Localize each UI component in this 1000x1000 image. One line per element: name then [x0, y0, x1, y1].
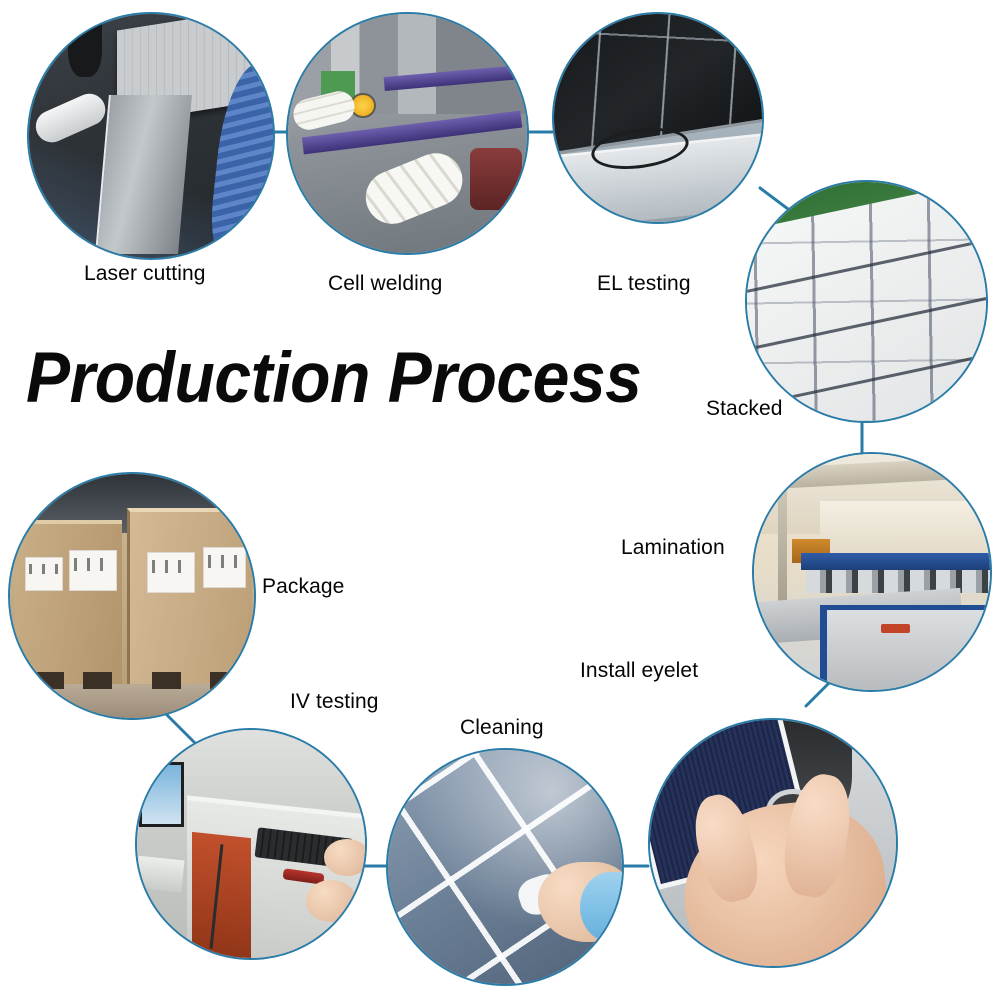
step-circle-el-testing[interactable]: [552, 12, 764, 224]
install-eyelet-photo: [650, 720, 896, 966]
step-circle-cleaning[interactable]: [386, 748, 624, 986]
step-label-el-testing: EL testing: [597, 272, 691, 296]
iv-testing-photo: [137, 730, 365, 958]
step-circle-package[interactable]: [8, 472, 256, 720]
cell-welding-photo: [288, 14, 527, 253]
production-process-infographic: Laser cutting Cell welding EL testing: [0, 0, 1000, 1000]
step-circle-install-eyelet[interactable]: [648, 718, 898, 968]
lamination-photo: [754, 454, 990, 690]
step-circle-cell-welding[interactable]: [286, 12, 529, 255]
el-testing-photo: [554, 14, 762, 222]
step-circle-laser-cutting[interactable]: [27, 12, 275, 260]
stacked-photo: [747, 182, 986, 421]
step-label-laser-cutting: Laser cutting: [84, 262, 206, 286]
step-label-lamination: Lamination: [621, 536, 725, 560]
laser-cutting-photo: [29, 14, 273, 258]
step-label-iv-testing: IV testing: [290, 690, 379, 714]
step-circle-stacked[interactable]: [745, 180, 988, 423]
step-label-install-eyelet: Install eyelet: [580, 659, 698, 683]
step-label-cleaning: Cleaning: [460, 716, 544, 740]
step-label-package: Package: [262, 575, 344, 599]
package-photo: [10, 474, 254, 718]
step-circle-iv-testing[interactable]: [135, 728, 367, 960]
step-circle-lamination[interactable]: [752, 452, 992, 692]
page-title: Production Process: [26, 338, 641, 419]
step-label-stacked: Stacked: [706, 397, 783, 421]
cleaning-photo: [388, 750, 622, 984]
step-label-cell-welding: Cell welding: [328, 272, 442, 296]
